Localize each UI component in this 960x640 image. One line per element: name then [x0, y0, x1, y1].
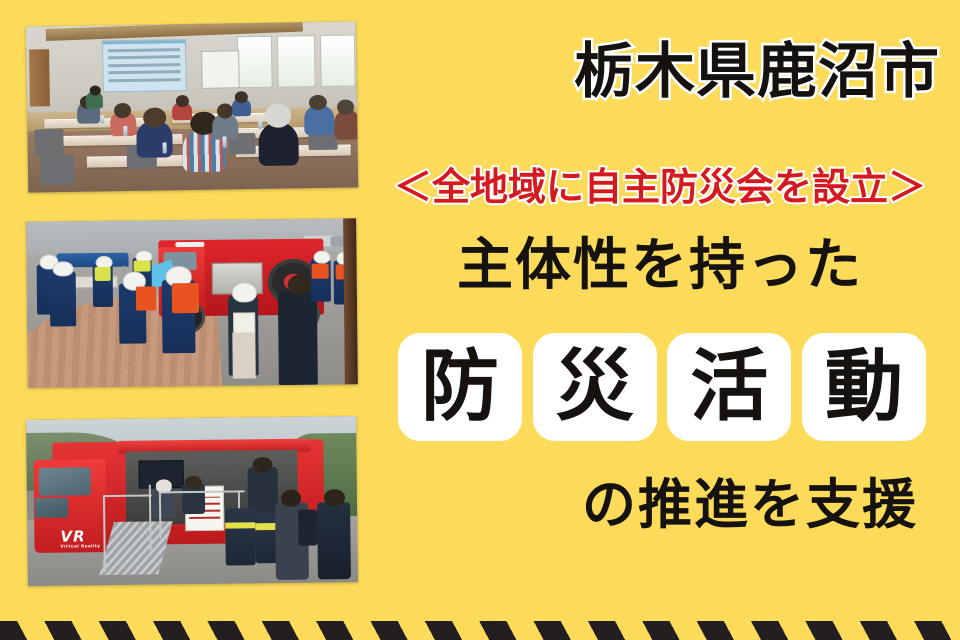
- keyword-box-2: 災: [533, 333, 657, 441]
- subline-text: ＜全地域に自主防災会を設立＞: [380, 168, 940, 206]
- photo-vr-disaster-truck: VR Virtual Reality VR防災体験車 — 赤いトラック型の体験車…: [26, 416, 358, 586]
- vr-logo: VR Virtual Reality: [60, 528, 126, 547]
- poster-canvas: 自主防災会の説明会 — 公民館の研修室でプロジェクター画面を見る住民: [0, 0, 960, 640]
- city-title: 栃木県鹿沼市: [560, 42, 940, 102]
- photo-seminar-meeting: 自主防災会の説明会 — 公民館の研修室でプロジェクター画面を見る住民: [26, 21, 359, 192]
- photo-disaster-drill: 防災訓練 — 消防団員と赤い消防車、青いテント、搬送訓練: [26, 218, 358, 387]
- tail-text: の推進を支援: [380, 478, 940, 532]
- keyword-box-3: 活: [667, 333, 791, 441]
- keyword-box-row: 防 災 活 動: [398, 333, 926, 441]
- keyword-box-4: 動: [802, 333, 926, 441]
- lead-text: 主体性を持った: [380, 238, 940, 294]
- keyword-box-1: 防: [398, 333, 522, 441]
- hazard-stripe: [0, 621, 960, 640]
